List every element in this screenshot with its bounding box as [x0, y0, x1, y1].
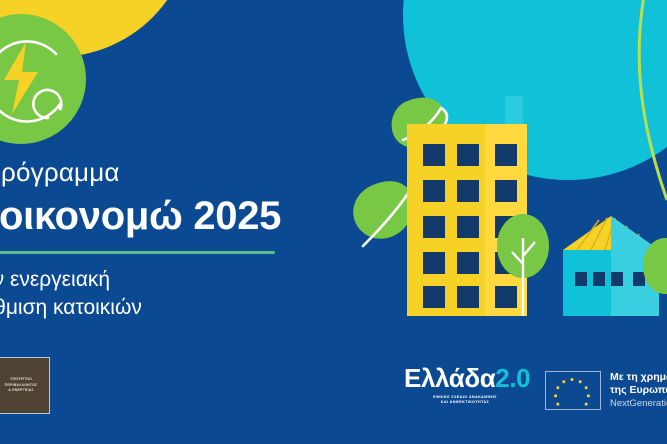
- eu-funding-line-2: της Ευρωπαϊκή: [610, 384, 667, 397]
- greece-2-0-subtitle-line-2: ΚΑΙ ΑΝΘΕΚΤΙΚΟΤΗΤΑΣ: [404, 400, 526, 406]
- headline-copy-block: Πρόγραμμα ξοικονομώ 2025 ην ενεργειακή ά…: [0, 158, 312, 322]
- program-kicker: Πρόγραμμα: [0, 158, 312, 187]
- greece-2-0-name: Ελλάδα: [404, 363, 495, 393]
- eu-flag-icon: [545, 371, 601, 410]
- greece-2-0-logo: Ελλάδα2.0 ΕΘΝΙΚΟ ΣΧΕΔΙΟ ΑΝΑΚΑΜΨΗΣ ΚΑΙ ΑΝ…: [404, 365, 526, 406]
- city-illustration: [345, 88, 667, 343]
- eu-funding-line-3: NextGenerationEU: [610, 398, 667, 410]
- apartment-building-icon: [407, 96, 527, 316]
- page-title: ξοικονομώ 2025: [0, 195, 312, 237]
- subtitle-line-1: ην ενεργειακή: [0, 267, 312, 294]
- banner-canvas: Πρόγραμμα ξοικονομώ 2025 ην ενεργειακή ά…: [0, 0, 667, 444]
- eu-funding-text: Με τη χρηματο της Ευρωπαϊκή NextGenerati…: [610, 371, 667, 409]
- energy-badge: [0, 14, 86, 144]
- leaf-icon-lower: [353, 181, 413, 246]
- title-divider: [0, 251, 275, 254]
- eu-funding-block: Με τη χρηματο της Ευρωπαϊκή NextGenerati…: [545, 371, 667, 410]
- ministry-logo: ΥΠΟΥΡΓΕΙΟ ΠΕΡΙΒΑΛΛΟΝΤΟΣ & ΕΝΕΡΓΕΙΑΣ: [0, 357, 50, 414]
- greece-2-0-subtitle: ΕΘΝΙΚΟ ΣΧΕΔΙΟ ΑΝΑΚΑΜΨΗΣ ΚΑΙ ΑΝΘΕΚΤΙΚΟΤΗΤ…: [404, 395, 526, 406]
- subtitle-line-2: άθμιση κατοικιών: [0, 295, 312, 322]
- ministry-logo-text: ΥΠΟΥΡΓΕΙΟ ΠΕΡΙΒΑΛΛΟΝΤΟΣ & ΕΝΕΡΓΕΙΑΣ: [5, 377, 38, 394]
- lightning-leaf-icon: [0, 14, 86, 144]
- greece-2-0-version: 2.0: [495, 363, 530, 393]
- eu-funding-line-1: Με τη χρηματο: [610, 371, 667, 384]
- greece-2-0-wordmark: Ελλάδα2.0: [404, 365, 526, 391]
- ministry-logo-line-3: & ΕΝΕΡΓΕΙΑΣ: [5, 388, 38, 394]
